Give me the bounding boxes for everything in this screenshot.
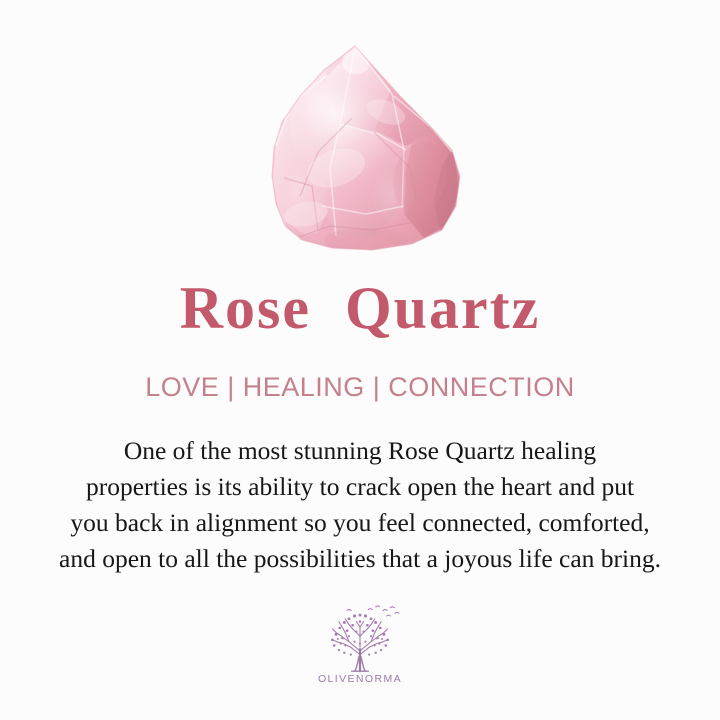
- description-line: One of the most stunning Rose Quartz hea…: [10, 433, 710, 469]
- keywords-subtitle: LOVE | HEALING | CONNECTION: [145, 374, 575, 401]
- rose-quartz-info-card: Rose Quartz LOVE | HEALING | CONNECTION …: [0, 0, 720, 720]
- brand-logo: OLIVENORMA: [290, 603, 430, 685]
- description-line: and open to all the possibilities that a…: [10, 541, 710, 577]
- crystal-faces: [260, 30, 480, 270]
- description-line: you back in alignment so you feel connec…: [10, 505, 710, 541]
- description-text: One of the most stunning Rose Quartz hea…: [10, 433, 710, 577]
- tree-of-life-icon: [314, 603, 406, 675]
- brand-wordmark: OLIVENORMA: [318, 673, 402, 685]
- description-line: properties is its ability to crack open …: [10, 469, 710, 505]
- rose-quartz-crystal-photo: [0, 0, 720, 278]
- hero-image-area: [0, 0, 720, 278]
- page-title: Rose Quartz: [180, 278, 541, 338]
